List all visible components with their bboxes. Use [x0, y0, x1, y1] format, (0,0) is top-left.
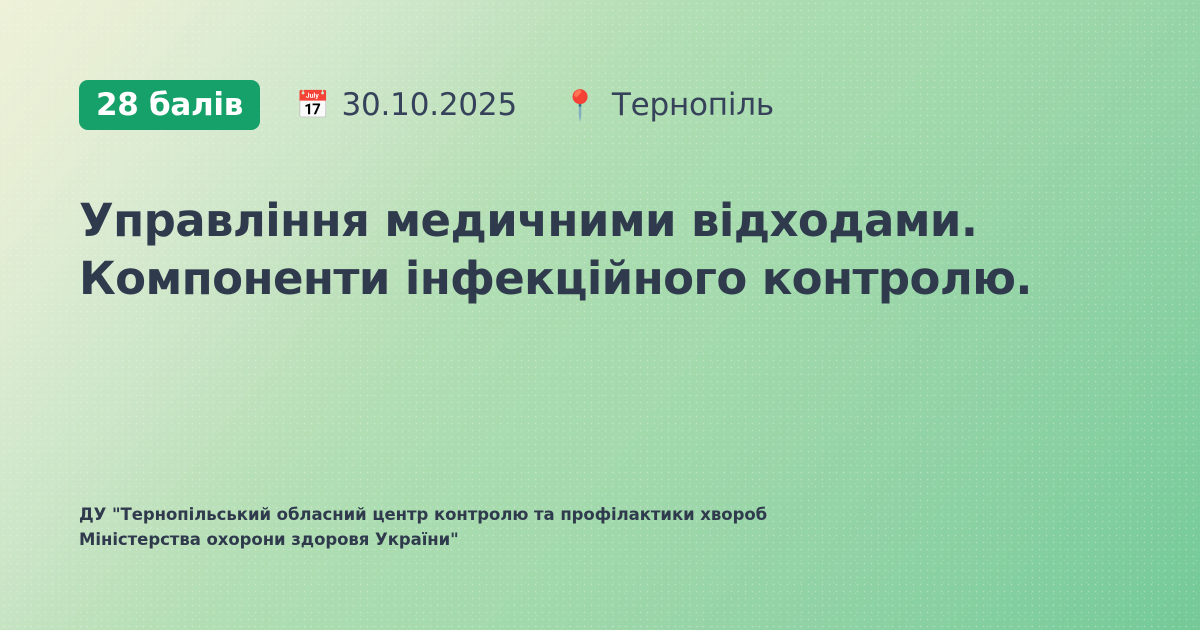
event-date-text: 30.10.2025	[341, 90, 517, 121]
organizer-line-2: Міністерства охорони здоровя України"	[79, 527, 767, 552]
organizer-text: ДУ "Тернопільський обласний центр контро…	[79, 502, 767, 552]
meta-row: 28 балів 📅 30.10.2025 📍 Тернопіль	[79, 80, 1121, 130]
event-title-line-2: Компоненти інфекційного контролю.	[79, 250, 1121, 308]
points-badge: 28 балів	[79, 80, 260, 130]
event-title-line-1: Управління медичними відходами.	[79, 192, 1121, 250]
organizer-line-1: ДУ "Тернопільський обласний центр контро…	[79, 502, 767, 527]
event-title: Управління медичними відходами. Компонен…	[79, 192, 1121, 308]
event-date: 📅 30.10.2025	[296, 90, 517, 121]
event-location-text: Тернопіль	[612, 90, 774, 121]
event-announcement-card: 28 балів 📅 30.10.2025 📍 Тернопіль Управл…	[0, 0, 1200, 630]
calendar-icon: 📅	[296, 92, 329, 119]
location-pin-icon: 📍	[562, 91, 598, 120]
event-location: 📍 Тернопіль	[562, 90, 774, 121]
